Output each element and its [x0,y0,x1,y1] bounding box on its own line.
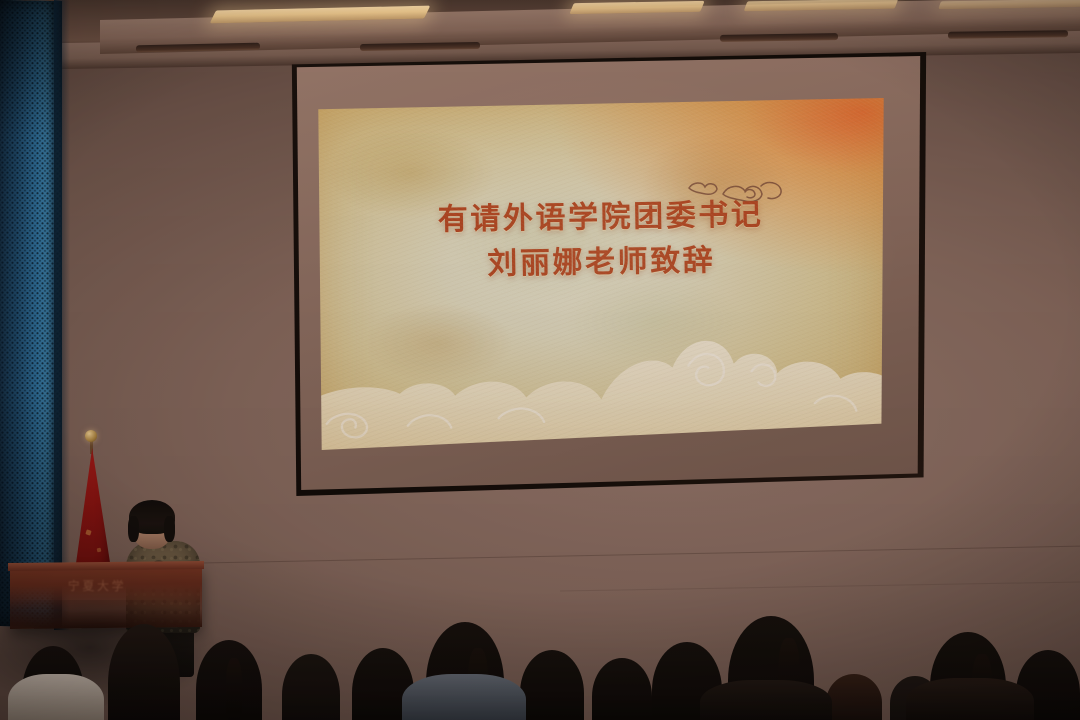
acoustic-panel-edge [54,0,70,630]
audience-shoulders [906,678,1034,720]
audience-head [108,624,180,720]
audience-shoulders [700,680,832,720]
slide-title: 有请外语学院团委书记 刘丽娜老师致辞 [316,192,886,288]
slide-title-line-2: 刘丽娜老师致辞 [316,237,886,287]
speaker-hair [164,516,175,542]
slide-title-line-1: 有请外语学院团委书记 [316,192,886,242]
flag-finial-icon [85,430,97,442]
projected-slide: 有请外语学院团委书记 刘丽娜老师致辞 [316,98,886,450]
speaker-hair [128,516,139,542]
audience-ponytail [226,658,242,720]
auditorium-photo: 有请外语学院团委书记 刘丽娜老师致辞 [0,0,1080,720]
audience-head [282,654,340,720]
audience-head [826,674,882,720]
flag-star-icon [97,548,102,553]
audience-shoulders [402,674,526,720]
audience-rows [0,590,1080,720]
audience-shoulders [8,674,104,720]
acoustic-panel [0,0,62,627]
audience-head [592,658,652,720]
audience-head [520,650,584,720]
